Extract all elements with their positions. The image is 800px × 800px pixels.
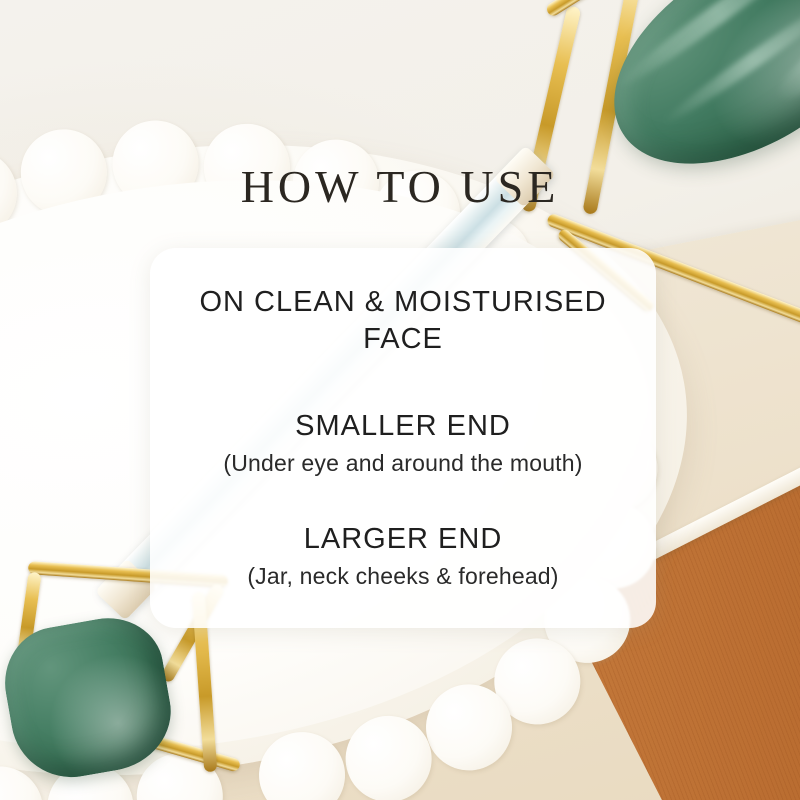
instructions-card: ON CLEAN & MOISTURISED FACE SMALLER END … [150,248,656,628]
instruction-block-3: LARGER END (Jar, neck cheeks & forehead) [150,521,656,592]
page-title: HOW TO USE [0,160,800,213]
block1-head-line1: ON CLEAN & MOISTURISED [150,284,656,321]
block3-head: LARGER END [150,521,656,558]
instruction-graphic: HOW TO USE ON CLEAN & MOISTURISED FACE S… [0,0,800,800]
block3-sub: (Jar, neck cheeks & forehead) [150,562,656,592]
block1-head-line2: FACE [150,321,656,358]
instruction-block-1: ON CLEAN & MOISTURISED FACE [150,284,656,358]
block2-sub: (Under eye and around the mouth) [150,449,656,479]
instruction-block-2: SMALLER END (Under eye and around the mo… [150,408,656,479]
block2-head: SMALLER END [150,408,656,445]
